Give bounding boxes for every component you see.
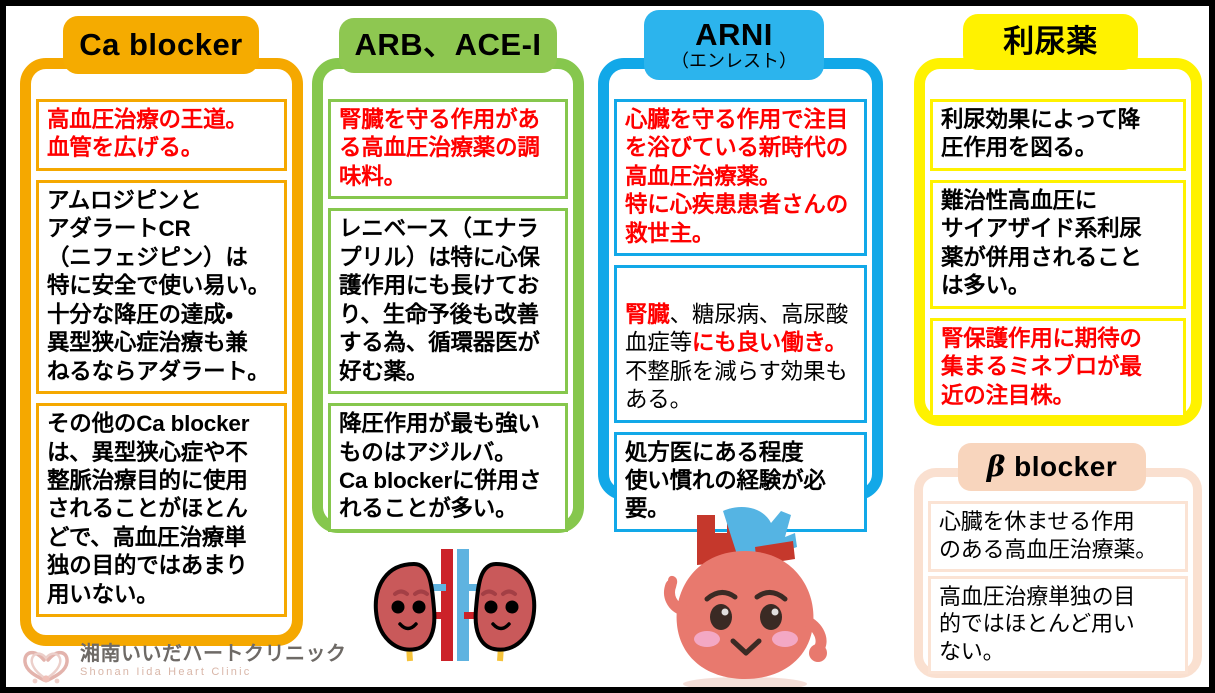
beta-symbol: β xyxy=(987,450,1006,483)
card-diu-2: 難治性高血圧に サイアザイド系利尿 薬が併用されること は多い。 xyxy=(930,180,1186,309)
clinic-name-jp: 湘南いいだハートクリニック xyxy=(80,644,347,665)
heart-character-illustration xyxy=(645,503,845,693)
card-diu-3: 腎保護作用に期待の 集まるミネブロが最 近の注目株。 xyxy=(930,318,1186,418)
column-title-ca-blocker: Ca blocker xyxy=(79,29,243,61)
column-header-arni: ARNI （エンレスト） xyxy=(644,10,824,80)
column-diuretics: 利尿効果によって降 圧作用を図る。 難治性高血圧に サイアザイド系利尿 薬が併用… xyxy=(914,58,1202,426)
card-arb-1: 腎臓を守る作用があ る高血圧治療薬の調 味料。 xyxy=(328,99,568,199)
two-hearts-logo-mark xyxy=(20,638,72,684)
clinic-name-en: Shonan Iida Heart Clinic xyxy=(80,667,347,679)
clinic-logo: 湘南いいだハートクリニック Shonan Iida Heart Clinic xyxy=(20,638,347,684)
column-title-arb-acei: ARB、ACE-I xyxy=(354,29,541,61)
card-arni-2-seg-4: 不整脈を減らす効果も ある。 xyxy=(625,359,848,412)
column-title-arni: ARNI xyxy=(695,19,773,51)
beta-title-rest: blocker xyxy=(1006,451,1117,482)
card-beta-1: 心臓を休ませる作用 のある高血圧治療薬。 xyxy=(928,501,1188,572)
column-beta-blocker: 心臓を休ませる作用 のある高血圧治療薬。 高血圧治療単独の目 的ではほとんど用い… xyxy=(914,468,1202,678)
card-arb-2: レニベース（エナラ プリル）は特に心保 護作用にも長けてお り、生命予後も改善 … xyxy=(328,208,568,394)
column-header-beta-blocker: β blocker xyxy=(958,443,1146,491)
column-ca-blocker: 高血圧治療の王道。 血管を広げる。 アムロジピンと アダラートCR （ニフェジピ… xyxy=(20,58,303,646)
column-subtitle-arni: （エンレスト） xyxy=(671,52,797,71)
kidney-characters-illustration xyxy=(362,549,547,664)
column-header-diuretics: 利尿薬 xyxy=(963,14,1138,70)
card-ca-3: その他のCa blocker は、異型狭心症や不 整脈治療目的に使用 されること… xyxy=(36,403,287,617)
card-ca-1: 高血圧治療の王道。 血管を広げる。 xyxy=(36,99,287,171)
card-arni-2-seg-1: 腎臓 xyxy=(625,302,670,327)
card-arni-2-seg-3: にも良い働き。 xyxy=(692,330,847,355)
card-arni-2: 腎臓、糖尿病、高尿酸 血症等にも良い働き。 不整脈を減らす効果も ある。 xyxy=(614,265,867,422)
column-header-arb-acei: ARB、ACE-I xyxy=(339,18,557,73)
column-arb-acei: 腎臓を守る作用があ る高血圧治療薬の調 味料。 レニベース（エナラ プリル）は特… xyxy=(312,58,584,533)
card-arb-3: 降圧作用が最も強い ものはアジルバ。 Ca blockerに併用さ れることが多… xyxy=(328,403,568,532)
card-beta-2: 高血圧治療単独の目 的ではほとんど用い ない。 xyxy=(928,576,1188,674)
card-arni-1: 心臓を守る作用で注目 を浴びている新時代の 高血圧治療薬。 特に心疾患患者さんの… xyxy=(614,99,867,256)
column-title-beta-blocker: β blocker xyxy=(987,452,1117,481)
infographic-canvas: Ca blocker 高血圧治療の王道。 血管を広げる。 アムロジピンと アダラ… xyxy=(0,0,1215,693)
card-diu-1: 利尿効果によって降 圧作用を図る。 xyxy=(930,99,1186,171)
card-ca-2: アムロジピンと アダラートCR （ニフェジピン）は 特に安全で使い易い。 十分な… xyxy=(36,180,287,394)
column-header-ca-blocker: Ca blocker xyxy=(63,16,259,74)
column-arni: 心臓を守る作用で注目 を浴びている新時代の 高血圧治療薬。 特に心疾患患者さんの… xyxy=(598,58,883,500)
column-title-diuretics: 利尿薬 xyxy=(1003,26,1098,58)
